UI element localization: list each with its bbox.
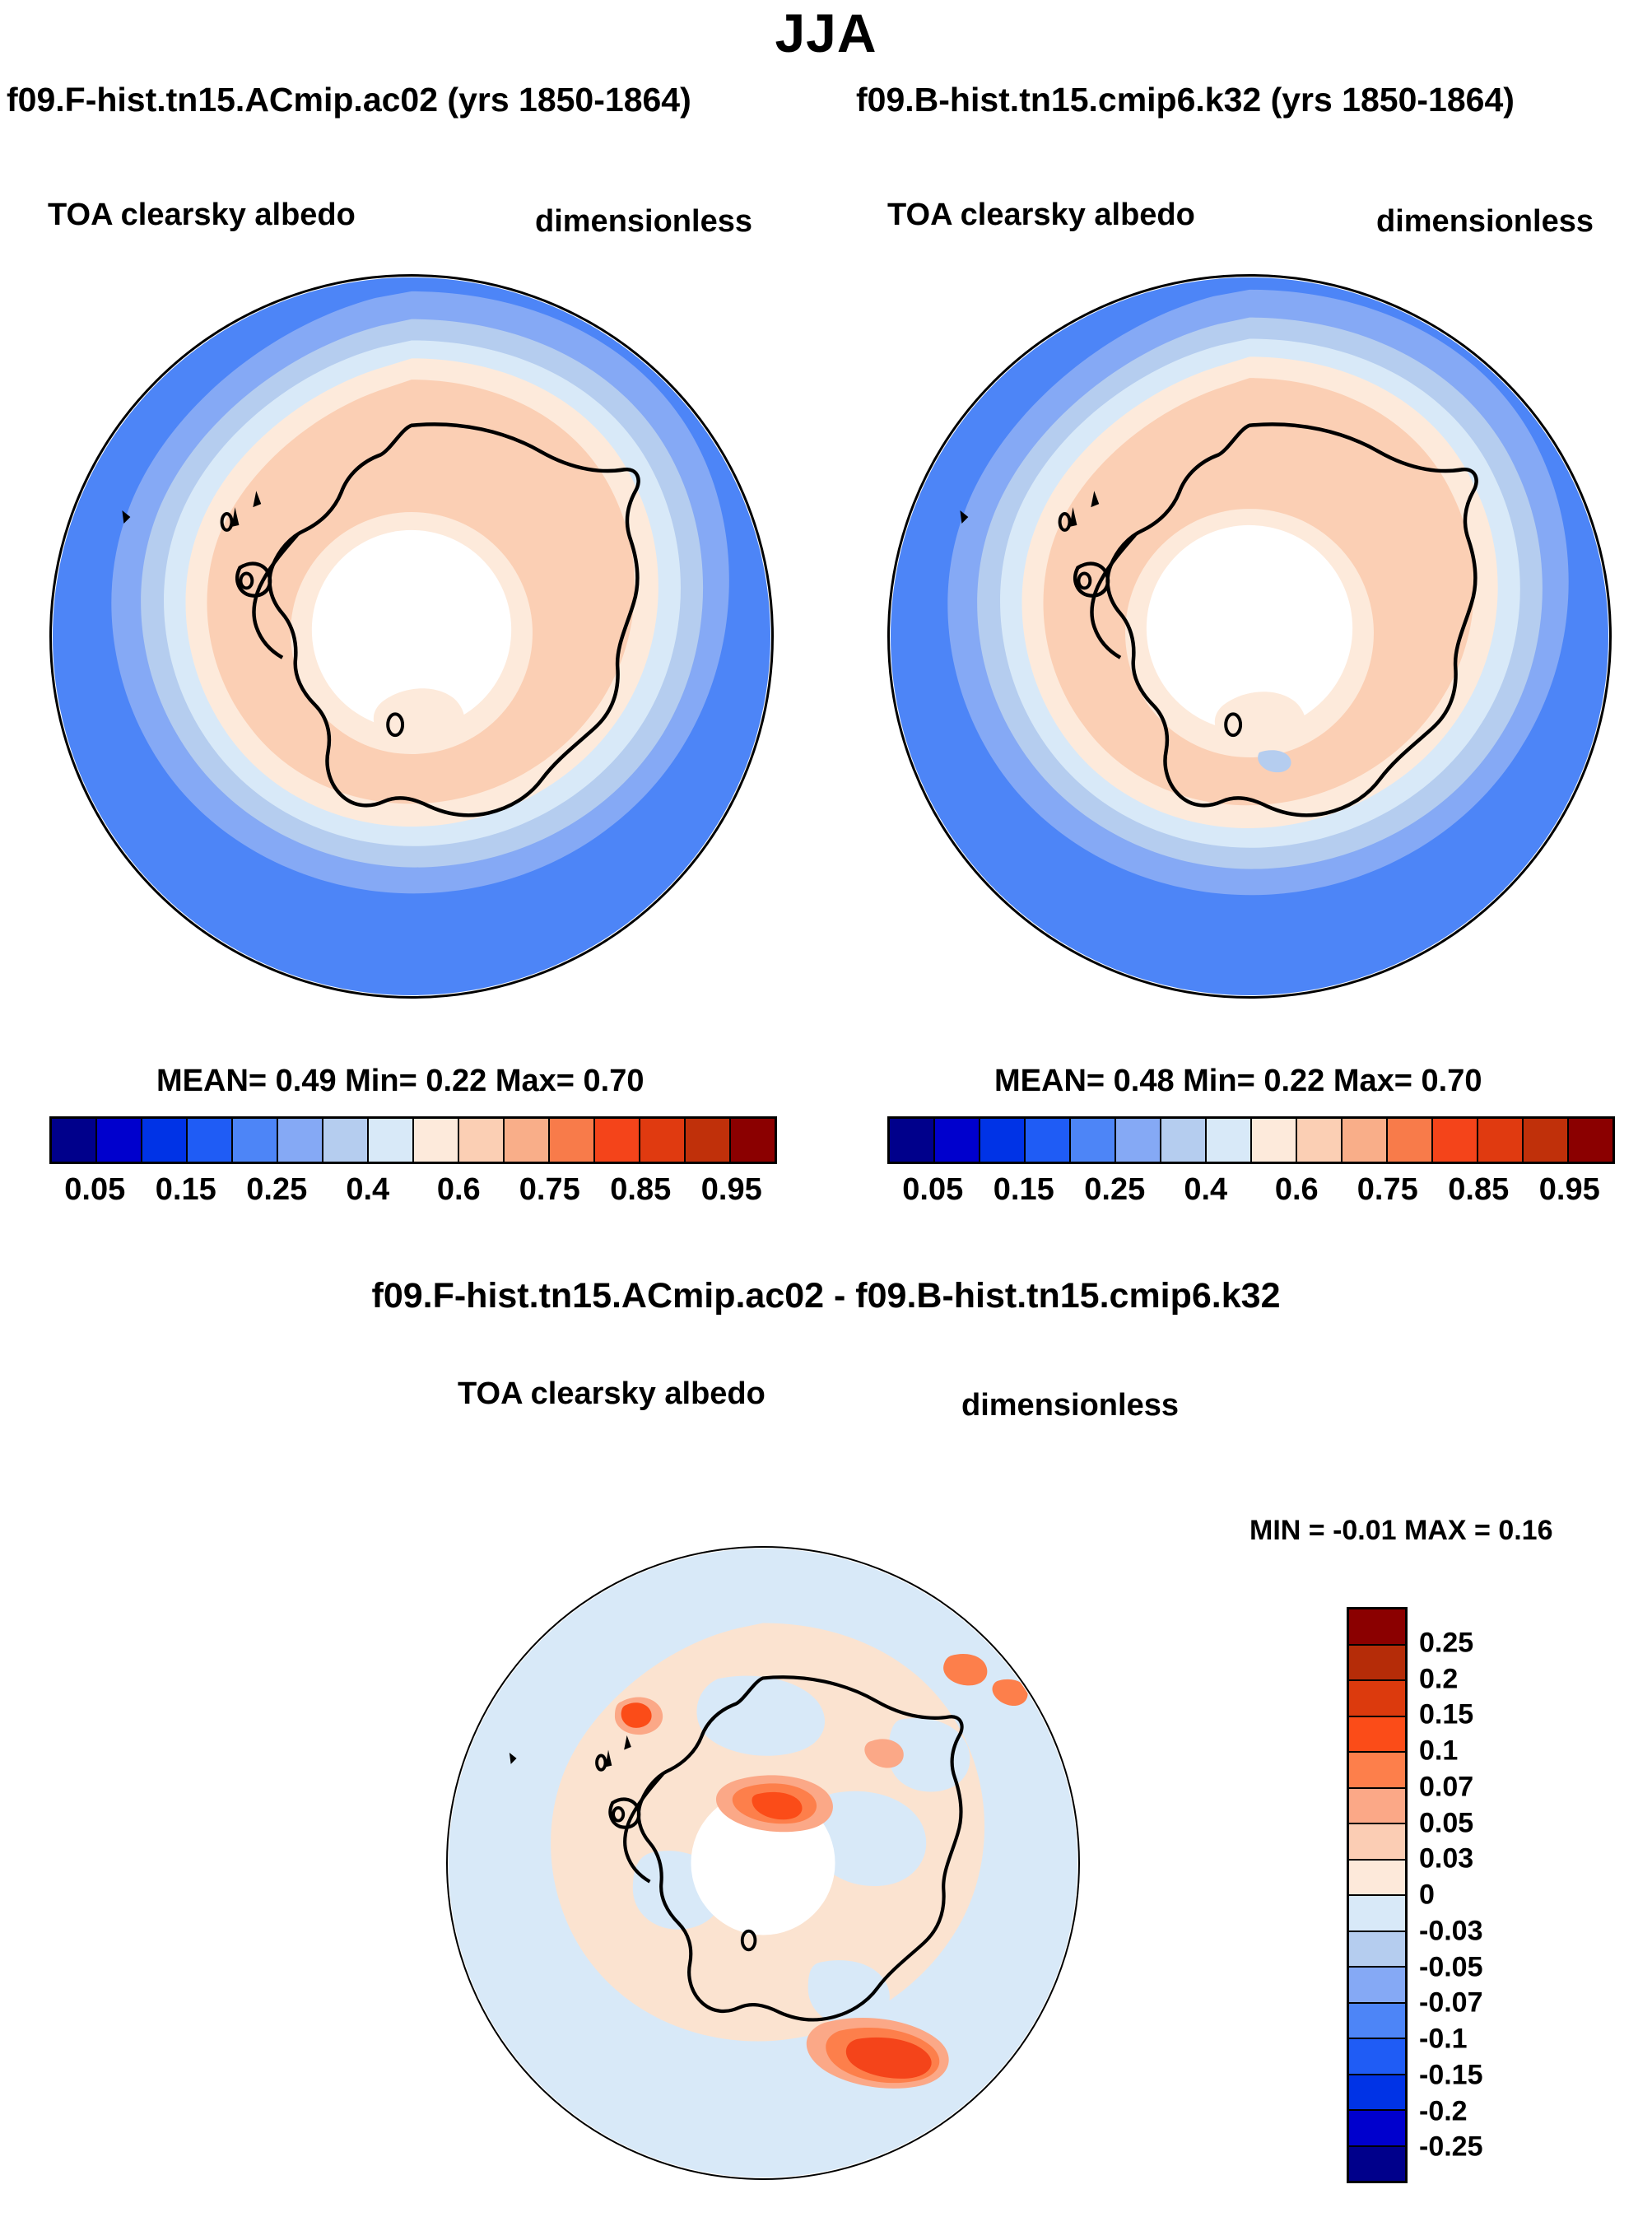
colorbar-cell (1343, 1119, 1388, 1162)
colorbar-tick-label: 0.05 (902, 1172, 963, 1208)
left-panel-stats: MEAN= 0.49 Min= 0.22 Max= 0.70 (156, 1064, 644, 1099)
colorbar-cell (369, 1119, 414, 1162)
colorbar-tick-label: 0.4 (1184, 1172, 1227, 1208)
colorbar-tick-label: 0.85 (1448, 1172, 1509, 1208)
colorbar-tick-label: -0.2 (1419, 2095, 1468, 2127)
colorbar-cell (640, 1119, 686, 1162)
left-panel-units-label: dimensionless (535, 204, 752, 240)
colorbar-cell (686, 1119, 731, 1162)
colorbar-cell (188, 1119, 233, 1162)
colorbar-cell (1349, 2147, 1405, 2182)
colorbar-tick-label: 0.15 (156, 1172, 216, 1208)
colorbar-cell (1524, 1119, 1569, 1162)
left-polar-map (49, 274, 774, 999)
left-map-graphic (52, 277, 771, 996)
right-panel-stats: MEAN= 0.48 Min= 0.22 Max= 0.70 (994, 1064, 1482, 1099)
colorbar-cell (731, 1119, 775, 1162)
colorbar-tick-label: 0.1 (1419, 1735, 1458, 1768)
colorbar-tick-label: 0.25 (246, 1172, 307, 1208)
colorbar-cell (1252, 1119, 1297, 1162)
difference-units-label: dimensionless (961, 1388, 1179, 1423)
colorbar-tick-label: 0.95 (1539, 1172, 1600, 1208)
colorbar-cell (1071, 1119, 1116, 1162)
colorbar-cell (1349, 2004, 1405, 2040)
colorbar-cell (1349, 2111, 1405, 2147)
difference-variable-label: TOA clearsky albedo (458, 1376, 766, 1412)
difference-minmax: MIN = -0.01 MAX = 0.16 (1249, 1515, 1553, 1547)
colorbar-tick-label: 0.6 (437, 1172, 481, 1208)
colorbar-cell (1433, 1119, 1478, 1162)
colorbar-cell (1349, 1609, 1405, 1646)
colorbar-cell (414, 1119, 459, 1162)
colorbar-cell (505, 1119, 550, 1162)
colorbar-cell (142, 1119, 188, 1162)
colorbar-tick-label: -0.03 (1419, 1915, 1483, 1947)
colorbar-cell (890, 1119, 935, 1162)
right-polar-map (887, 274, 1612, 999)
colorbar-cell (1207, 1119, 1252, 1162)
colorbar-cell (1349, 1968, 1405, 2004)
colorbar-tick-label: -0.07 (1419, 1987, 1483, 2019)
colorbar-cell (1388, 1119, 1433, 1162)
colorbar-tick-label: 0.25 (1419, 1627, 1473, 1659)
right-panel-units-label: dimensionless (1376, 204, 1594, 240)
colorbar-cell (1349, 1824, 1405, 1861)
figure-root: JJA f09.F-hist.tn15.ACmip.ac02 (yrs 1850… (0, 0, 1652, 2217)
colorbar-cell (1349, 2075, 1405, 2112)
colorbar-cell (1349, 2039, 1405, 2075)
colorbar-cell (980, 1119, 1026, 1162)
colorbar-tick-label: -0.15 (1419, 2059, 1483, 2091)
colorbar-tick-label: 0.75 (519, 1172, 580, 1208)
colorbar-tick-label: 0.05 (64, 1172, 125, 1208)
colorbar-tick-label: 0.25 (1084, 1172, 1145, 1208)
right-colorbar (887, 1116, 1615, 1164)
colorbar-tick-label: 0.15 (1419, 1699, 1473, 1731)
colorbar-tick-label: 0.6 (1275, 1172, 1319, 1208)
left-colorbar (49, 1116, 777, 1164)
colorbar-tick-label: -0.1 (1419, 2024, 1468, 2056)
colorbar-tick-label: 0.95 (701, 1172, 762, 1208)
difference-map-graphic (448, 1548, 1078, 2178)
left-colorbar-ticks: 0.050.150.250.40.60.750.850.95 (49, 1172, 777, 1215)
colorbar-cell (1026, 1119, 1071, 1162)
colorbar-tick-label: -0.05 (1419, 1951, 1483, 1983)
colorbar-tick-label: 0.03 (1419, 1843, 1473, 1875)
right-colorbar-ticks: 0.050.150.250.40.60.750.850.95 (887, 1172, 1615, 1215)
colorbar-tick-label: 0 (1419, 1879, 1435, 1912)
colorbar-cell (1349, 1789, 1405, 1825)
colorbar-cell (323, 1119, 369, 1162)
right-panel-variable-label: TOA clearsky albedo (887, 198, 1195, 233)
colorbar-cell (278, 1119, 323, 1162)
left-panel-variable-label: TOA clearsky albedo (48, 198, 356, 233)
colorbar-tick-label: 0.05 (1419, 1807, 1473, 1839)
colorbar-cell (1161, 1119, 1207, 1162)
colorbar-cell (1349, 1717, 1405, 1754)
colorbar-cell (1349, 1681, 1405, 1717)
colorbar-cell (97, 1119, 142, 1162)
colorbar-tick-label: -0.25 (1419, 2131, 1483, 2163)
colorbar-cell (1349, 1932, 1405, 1968)
colorbar-tick-label: 0.85 (610, 1172, 671, 1208)
colorbar-tick-label: 0.2 (1419, 1663, 1458, 1695)
colorbar-cell (935, 1119, 980, 1162)
colorbar-cell (1569, 1119, 1612, 1162)
colorbar-cell (233, 1119, 278, 1162)
colorbar-cell (550, 1119, 595, 1162)
colorbar-tick-label: 0.4 (346, 1172, 389, 1208)
left-panel-run-title: f09.F-hist.tn15.ACmip.ac02 (yrs 1850-186… (7, 81, 691, 119)
difference-colorbar-ticks: 0.250.20.150.10.070.050.030-0.03-0.05-0.… (1419, 1607, 1600, 2183)
colorbar-cell (459, 1119, 505, 1162)
difference-polar-map (446, 1546, 1080, 2180)
colorbar-tick-label: 0.75 (1357, 1172, 1418, 1208)
colorbar-cell (1349, 1646, 1405, 1682)
colorbar-cell (1349, 1861, 1405, 1897)
right-panel-run-title: f09.B-hist.tn15.cmip6.k32 (yrs 1850-1864… (856, 81, 1515, 119)
colorbar-cell (1349, 1753, 1405, 1789)
right-map-graphic (890, 277, 1609, 996)
difference-colorbar (1347, 1607, 1408, 2183)
colorbar-tick-label: 0.15 (994, 1172, 1054, 1208)
colorbar-cell (595, 1119, 640, 1162)
colorbar-cell (1349, 1896, 1405, 1932)
colorbar-cell (52, 1119, 97, 1162)
colorbar-cell (1297, 1119, 1343, 1162)
colorbar-tick-label: 0.07 (1419, 1771, 1473, 1803)
colorbar-cell (1116, 1119, 1161, 1162)
difference-title: f09.F-hist.tn15.ACmip.ac02 - f09.B-hist.… (0, 1276, 1652, 1316)
page-title: JJA (0, 2, 1652, 64)
colorbar-cell (1478, 1119, 1524, 1162)
